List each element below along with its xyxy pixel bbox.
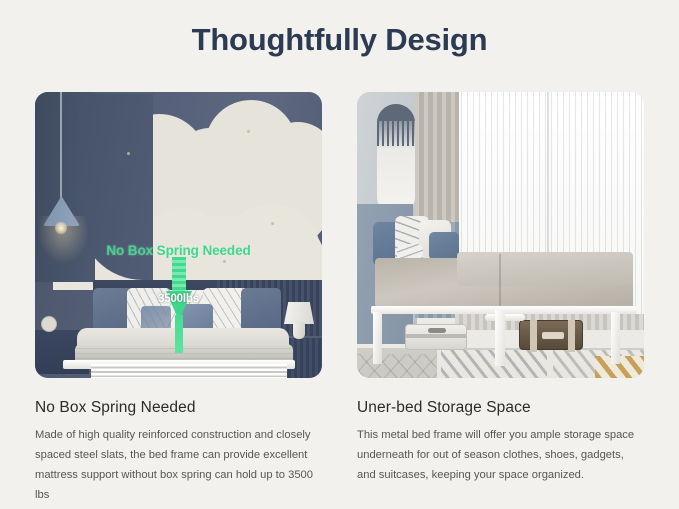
clock	[41, 316, 57, 332]
cushion	[429, 232, 459, 260]
feature-description-under-bed-storage: This metal bed frame will offer you ampl…	[357, 426, 638, 486]
feature-title-under-bed-storage: Uner-bed Storage Space	[357, 399, 644, 417]
feature-image-no-box-spring: No Box Spring Needed 3500lbs	[35, 92, 322, 378]
mattress-seam	[499, 254, 501, 308]
rug-stripe-block	[441, 350, 547, 378]
overlay-weight-capacity-label: 3500lbs	[35, 293, 322, 305]
feature-description-no-box-spring: Made of high quality reinforced construc…	[35, 426, 316, 506]
bed-frame-leg	[611, 312, 620, 364]
bed-frame-leg	[373, 312, 382, 364]
star-accent	[127, 152, 130, 155]
feature-image-under-bed-storage	[357, 92, 644, 378]
downward-load-arrow-icon	[166, 257, 192, 321]
table-lamp-base	[293, 322, 305, 339]
overlay-no-box-spring-label: No Box Spring Needed	[35, 243, 322, 258]
page-title: Thoughtfully Design	[0, 22, 679, 58]
bed-frame-crossbar	[485, 314, 525, 321]
mattress-top	[457, 252, 633, 286]
wall-art-pattern	[377, 104, 415, 146]
feature-panel-under-bed-storage: Uner-bed Storage Space This metal bed fr…	[357, 92, 644, 486]
star-accent	[271, 222, 274, 225]
bed-frame-leg	[495, 310, 505, 366]
feature-title-no-box-spring: No Box Spring Needed	[35, 399, 322, 417]
pendant-lamp-cord	[60, 92, 62, 200]
feature-panel-no-box-spring: No Box Spring Needed 3500lbs No Box Spri…	[35, 92, 322, 506]
table-lamp-shade	[284, 302, 314, 324]
bed-frame-steel-slats	[91, 364, 287, 378]
star-accent	[223, 260, 226, 263]
pendant-lamp-bulb	[55, 222, 67, 234]
star-accent	[247, 130, 250, 133]
